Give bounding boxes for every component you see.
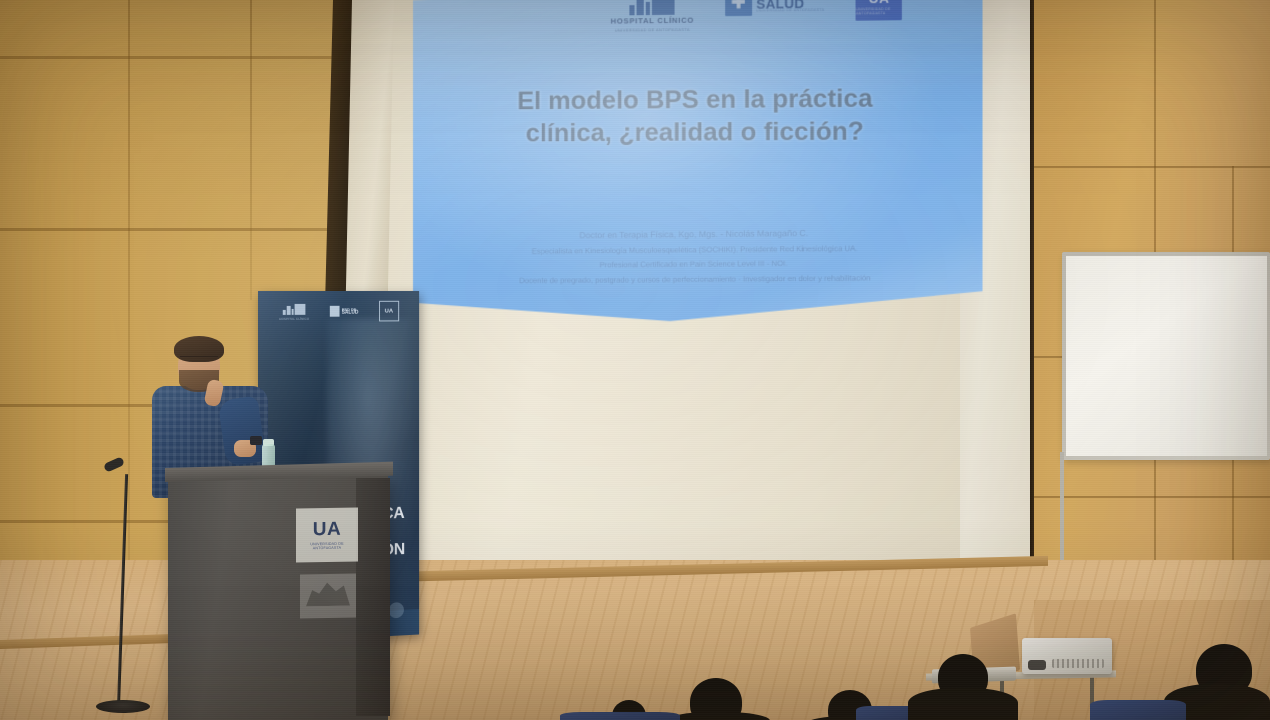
projected-slide: HOSPITAL CLÍNICO UNIVERSIDAD DE ANTOFAGA… (413, 0, 983, 333)
banner-ua-logo: UA (379, 301, 399, 322)
projector-lens-icon (1028, 660, 1046, 670)
podium-ua-text: UA (313, 519, 341, 538)
ua-logo: UA UNIVERSIDAD DE ANTOFAGASTA (856, 0, 902, 21)
whiteboard-surface (1066, 256, 1267, 456)
presentation-clicker (250, 436, 262, 445)
ua-logo-subline: UNIVERSIDAD DE ANTOFAGASTA (856, 6, 902, 15)
banner-red-salud-logo: RED DE SALUD (330, 306, 358, 317)
slide-subtitle: Doctor en Terapia Física, Kgo, Mgs. - Ni… (413, 223, 983, 289)
banner-ua-text: UA (385, 308, 393, 314)
podium-ua-subline: UNIVERSIDAD DE ANTOFAGASTA (296, 541, 358, 551)
slide-title-line1: El modelo BPS en la práctica (439, 81, 955, 117)
ua-logo-text: UA (869, 0, 890, 5)
banner-building-icon (283, 302, 306, 314)
banner-red-line2: SALUD (342, 311, 359, 315)
auditorium-photo: HOSPITAL CLÍNICO UNIVERSIDAD DE ANTOFAGA… (0, 0, 1270, 720)
glasses-icon (180, 356, 218, 364)
whiteboard (1062, 252, 1270, 460)
red-de-salud-logo: RED DE SALUD UNIVERSIDAD DE ANTOFAGASTA (725, 0, 824, 16)
banner-red-emblem-icon (330, 306, 340, 317)
audience-shoulders (666, 712, 770, 720)
podium-ua-logo: UA UNIVERSIDAD DE ANTOFAGASTA (296, 507, 358, 562)
audience-torso (1090, 700, 1186, 720)
projector-vent (1052, 659, 1104, 668)
red-salud-subline: UNIVERSIDAD DE ANTOFAGASTA (756, 9, 824, 13)
cross-icon (732, 0, 745, 8)
audience-torso (560, 712, 680, 720)
slide-title-line2: clínica, ¿realidad o ficción? (439, 114, 955, 149)
slide-title: El modelo BPS en la práctica clínica, ¿r… (413, 81, 983, 150)
podium-secondary-logo (300, 574, 356, 619)
hospital-clinico-logo: HOSPITAL CLÍNICO UNIVERSIDAD DE ANTOFAGA… (611, 0, 695, 32)
microphone-base (96, 700, 150, 713)
hospital-clinico-name: HOSPITAL CLÍNICO (611, 17, 695, 26)
banner-hospital-name: HOSPITAL CLÍNICO (279, 316, 309, 320)
wall-edge-light (345, 0, 394, 330)
slide-subtitle-line4: Docente de pregrado, postgrado y cursos … (433, 270, 961, 289)
podium-logo-mark-icon (306, 580, 350, 607)
banner-hospital-logo: HOSPITAL CLÍNICO (279, 302, 309, 320)
slide-logo-row: HOSPITAL CLÍNICO UNIVERSIDAD DE ANTOFAGA… (413, 0, 983, 35)
hospital-building-icon (630, 0, 675, 15)
podium-side-panel (356, 478, 390, 716)
banner-logo-row: HOSPITAL CLÍNICO RED DE SALUD UA (258, 301, 419, 322)
hospital-clinico-subline: UNIVERSIDAD DE ANTOFAGASTA (615, 27, 690, 32)
audience-shoulders (908, 688, 1018, 720)
red-salud-emblem-icon (725, 0, 752, 16)
